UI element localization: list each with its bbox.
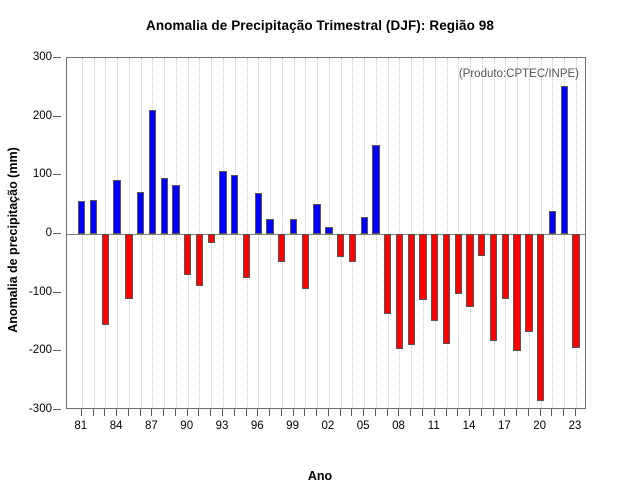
bar-10 (419, 234, 426, 300)
x-tick-mark (81, 409, 82, 416)
y-tick-mark (53, 292, 61, 293)
bar-83 (102, 234, 109, 325)
precipitation-anomaly-chart: Anomalia de Precipitação Trimestral (DJF… (0, 0, 640, 500)
x-tick-mark (187, 409, 188, 416)
chart-title: Anomalia de Precipitação Trimestral (DJF… (0, 18, 640, 33)
bar-00 (302, 234, 309, 289)
x-tick-mark (457, 409, 458, 416)
bar-21 (549, 211, 556, 234)
x-tick-mark (446, 409, 447, 416)
bar-04 (349, 234, 356, 262)
x-tick-label: 99 (286, 420, 299, 432)
x-tick-mark (304, 409, 305, 416)
x-tick-mark (328, 409, 329, 416)
bar-87 (149, 110, 156, 234)
x-tick-label: 14 (463, 420, 476, 432)
bar-91 (196, 234, 203, 286)
x-axis: Ano 818487909396990205081114172023 (0, 409, 640, 499)
x-tick-mark (222, 409, 223, 416)
x-tick-mark (293, 409, 294, 416)
x-tick-mark (410, 409, 411, 416)
x-tick-label: 96 (251, 420, 264, 432)
x-tick-mark (128, 409, 129, 416)
bar-12 (443, 234, 450, 344)
bars-layer (67, 58, 585, 408)
bar-01 (313, 204, 320, 234)
x-tick-mark (351, 409, 352, 416)
x-tick-mark (257, 409, 258, 416)
x-tick-label: 02 (321, 420, 334, 432)
y-tick-mark (53, 116, 61, 117)
bar-82 (90, 200, 97, 234)
x-tick-mark (528, 409, 529, 416)
bar-92 (208, 234, 215, 243)
y-tick-label: 100 (33, 168, 52, 180)
bar-05 (361, 217, 368, 234)
y-tick-label: -100 (29, 286, 52, 298)
x-tick-mark (481, 409, 482, 416)
x-tick-label: 08 (392, 420, 405, 432)
x-tick-mark (234, 409, 235, 416)
bar-95 (243, 234, 250, 278)
x-tick-mark (151, 409, 152, 416)
x-tick-mark (246, 409, 247, 416)
bar-86 (137, 192, 144, 234)
x-tick-mark (175, 409, 176, 416)
bar-17 (502, 234, 509, 299)
y-tick-mark (53, 350, 61, 351)
x-tick-mark (516, 409, 517, 416)
x-tick-label: 90 (180, 420, 193, 432)
x-tick-mark (398, 409, 399, 416)
bar-18 (513, 234, 520, 351)
x-tick-label: 23 (569, 420, 582, 432)
bar-85 (125, 234, 132, 299)
bar-09 (408, 234, 415, 345)
x-tick-label: 87 (145, 420, 158, 432)
bar-93 (219, 171, 226, 234)
bar-97 (266, 219, 273, 234)
y-tick-mark (53, 233, 61, 234)
x-tick-label: 93 (216, 420, 229, 432)
y-tick-mark (53, 57, 61, 58)
bar-99 (290, 219, 297, 234)
bar-06 (372, 145, 379, 234)
source-annotation: (Produto:CPTEC/INPE) (459, 68, 579, 80)
y-tick-mark (53, 174, 61, 175)
bar-08 (396, 234, 403, 349)
x-tick-mark (269, 409, 270, 416)
x-tick-mark (104, 409, 105, 416)
bar-11 (431, 234, 438, 321)
bar-94 (231, 175, 238, 234)
x-tick-mark (563, 409, 564, 416)
bar-90 (184, 234, 191, 275)
y-tick-label: 0 (46, 227, 52, 239)
x-tick-mark (434, 409, 435, 416)
bar-84 (113, 180, 120, 234)
x-tick-mark (340, 409, 341, 416)
x-tick-mark (210, 409, 211, 416)
bar-14 (466, 234, 473, 307)
bar-22 (561, 86, 568, 234)
bar-96 (255, 193, 262, 234)
y-tick-label: 200 (33, 110, 52, 122)
x-tick-label: 05 (357, 420, 370, 432)
y-tick-label: -200 (29, 344, 52, 356)
bar-81 (78, 201, 85, 234)
x-tick-mark (551, 409, 552, 416)
x-tick-mark (116, 409, 117, 416)
x-tick-mark (493, 409, 494, 416)
bar-89 (172, 185, 179, 234)
bar-13 (455, 234, 462, 294)
bar-19 (525, 234, 532, 332)
x-axis-title: Ano (0, 469, 640, 483)
x-tick-mark (422, 409, 423, 416)
x-tick-mark (316, 409, 317, 416)
x-tick-label: 11 (428, 420, 440, 432)
x-tick-mark (575, 409, 576, 416)
x-tick-mark (375, 409, 376, 416)
y-tick-label: 300 (33, 51, 52, 63)
x-tick-label: 17 (498, 420, 511, 432)
bar-07 (384, 234, 391, 314)
x-tick-mark (540, 409, 541, 416)
bar-20 (537, 234, 544, 401)
x-tick-mark (469, 409, 470, 416)
x-tick-label: 81 (74, 420, 87, 432)
bar-16 (490, 234, 497, 341)
bar-98 (278, 234, 285, 262)
x-tick-mark (281, 409, 282, 416)
bar-88 (161, 178, 168, 234)
y-axis-title: Anomalia de precipitação (mm) (6, 80, 20, 400)
x-tick-mark (93, 409, 94, 416)
bar-23 (572, 234, 579, 348)
x-tick-mark (198, 409, 199, 416)
x-tick-mark (504, 409, 505, 416)
x-tick-mark (363, 409, 364, 416)
plot-area: (Produto:CPTEC/INPE) (66, 57, 586, 409)
bar-15 (478, 234, 485, 256)
x-tick-label: 20 (533, 420, 546, 432)
x-tick-label: 84 (110, 420, 123, 432)
x-tick-mark (163, 409, 164, 416)
x-tick-mark (140, 409, 141, 416)
bar-02 (325, 227, 332, 234)
x-tick-mark (387, 409, 388, 416)
bar-03 (337, 234, 344, 257)
